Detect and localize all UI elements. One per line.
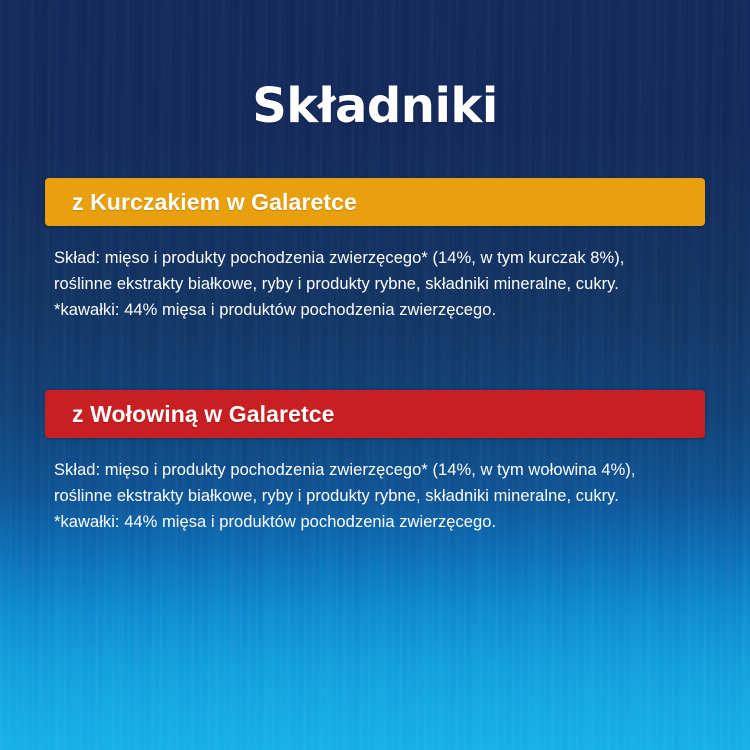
variant-banner-label-beef: z Wołowiną w Galaretce <box>45 401 335 428</box>
ingredients-line: Skład: mięso i produkty pochodzenia zwie… <box>54 245 702 271</box>
ingredients-section-beef: z Wołowiną w Galaretce Skład: mięso i pr… <box>0 390 750 535</box>
ingredients-text-beef: Skład: mięso i produkty pochodzenia zwie… <box>54 457 702 535</box>
ingredients-section-chicken: z Kurczakiem w Galaretce Skład: mięso i … <box>0 178 750 323</box>
ingredients-text-chicken: Skład: mięso i produkty pochodzenia zwie… <box>54 245 702 323</box>
ingredients-line: *kawałki: 44% mięsa i produktów pochodze… <box>54 297 702 323</box>
variant-banner-label-chicken: z Kurczakiem w Galaretce <box>45 189 357 216</box>
ingredients-line: *kawałki: 44% mięsa i produktów pochodze… <box>54 509 702 535</box>
ingredients-line: roślinne ekstrakty białkowe, ryby i prod… <box>54 271 702 297</box>
variant-banner-beef: z Wołowiną w Galaretce <box>45 390 705 438</box>
ingredients-poster: Składniki z Kurczakiem w Galaretce Skład… <box>0 0 750 750</box>
ingredients-line: roślinne ekstrakty białkowe, ryby i prod… <box>54 483 702 509</box>
ingredients-line: Skład: mięso i produkty pochodzenia zwie… <box>54 457 702 483</box>
variant-banner-chicken: z Kurczakiem w Galaretce <box>45 178 705 226</box>
page-title: Składniki <box>0 80 750 133</box>
